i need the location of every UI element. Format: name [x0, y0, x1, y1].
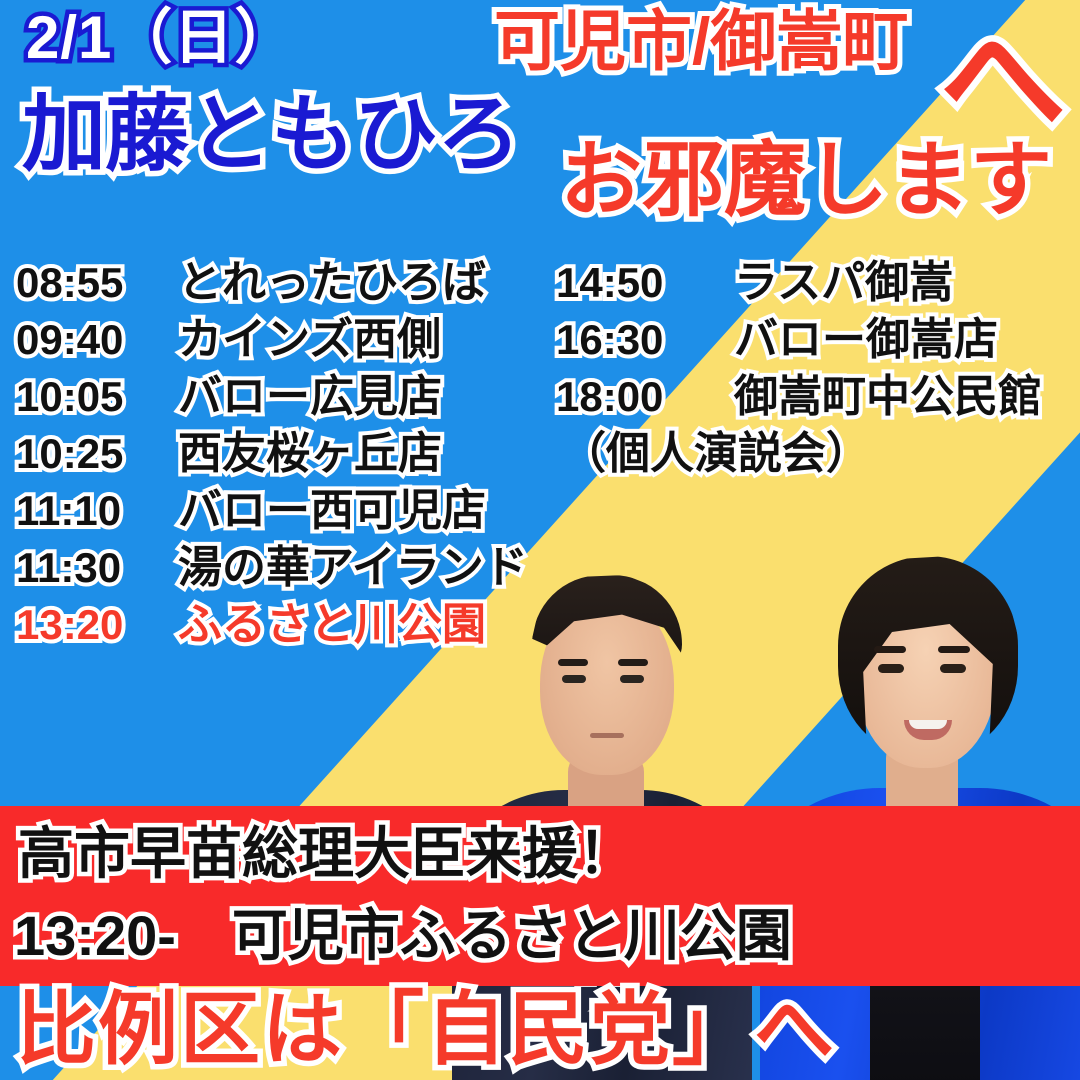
schedule-time: 13:20: [16, 601, 178, 649]
schedule-row: 11:30 湯の華アイランド: [16, 531, 528, 588]
schedule-time: 14:50: [556, 259, 734, 307]
schedule-time: 11:10: [16, 487, 178, 535]
schedule-place: ふるさと川公園: [178, 588, 486, 652]
arrow-he-icon: へ: [940, 18, 1066, 144]
schedule-place: バロー御嵩店: [734, 303, 998, 367]
teeth-shape: [909, 720, 947, 729]
schedule-place: 西友桜ヶ丘店: [178, 417, 442, 481]
eye-right: [940, 664, 966, 673]
schedule-row: 08:55 とれったひろば: [16, 246, 528, 303]
schedule-row: 11:10 バロー西可児店: [16, 474, 528, 531]
schedule-note: （個人演説会）: [562, 417, 1042, 474]
eye-left: [562, 675, 586, 683]
schedule-time: 09:40: [16, 316, 178, 364]
schedule-time: 10:05: [16, 373, 178, 421]
schedule-place: とれったひろば: [178, 246, 486, 310]
schedule-row: 16:30 バロー御嵩店: [556, 303, 1042, 360]
schedule-row: 10:25 西友桜ヶ丘店: [16, 417, 528, 474]
schedule-time: 08:55: [16, 259, 178, 307]
party-slogan: 比例区は「自民党」へ: [16, 990, 836, 1070]
eye-right: [620, 675, 644, 683]
schedule-left-column: 08:55 とれったひろば 09:40 カインズ西側 10:05 バロー広見店 …: [16, 246, 528, 645]
schedule-place: バロー広見店: [178, 360, 442, 424]
area-label: 可児市/御嵩町: [494, 8, 908, 74]
campaign-poster: 2/1（日） 加藤ともひろ 可児市/御嵩町 へ お邪魔します 08:55 とれっ…: [0, 0, 1080, 1080]
schedule-time: 11:30: [16, 544, 178, 592]
schedule-right-column: 14:50 ラスパ御嵩 16:30 バロー御嵩店 18:00 御嵩町中公民館 （…: [556, 246, 1042, 474]
banner-headline: 高市早苗総理大臣来援！: [18, 826, 634, 882]
schedule-time: 10:25: [16, 430, 178, 478]
schedule-row: 09:40 カインズ西側: [16, 303, 528, 360]
candidate-name: 加藤ともひろ: [22, 92, 520, 176]
schedule-time: 18:00: [556, 373, 734, 421]
banner-detail: 13:20- 可児市ふるさと川公園: [14, 908, 792, 964]
eyebrow-left: [558, 659, 588, 666]
schedule-place: ラスパ御嵩: [734, 246, 953, 310]
schedule-row: 10:05 バロー広見店: [16, 360, 528, 417]
mouth-shape: [590, 733, 624, 738]
schedule-place: カインズ西側: [178, 303, 441, 367]
eyebrow-right: [618, 659, 648, 666]
schedule-row: 14:50 ラスパ御嵩: [556, 246, 1042, 303]
schedule-row-highlighted: 13:20 ふるさと川公園: [16, 588, 528, 645]
eye-left: [878, 664, 904, 673]
eyebrow-right: [938, 646, 970, 653]
eyebrow-left: [874, 646, 906, 653]
schedule-place: 御嵩町中公民館: [734, 360, 1042, 424]
schedule-row: 18:00 御嵩町中公民館: [556, 360, 1042, 417]
schedule-place: 湯の華アイランド: [178, 531, 528, 595]
schedule-time: 16:30: [556, 316, 734, 364]
visit-message: お邪魔します: [560, 140, 1052, 222]
event-date: 2/1（日）: [26, 8, 295, 68]
schedule-place: バロー西可児店: [178, 474, 486, 538]
